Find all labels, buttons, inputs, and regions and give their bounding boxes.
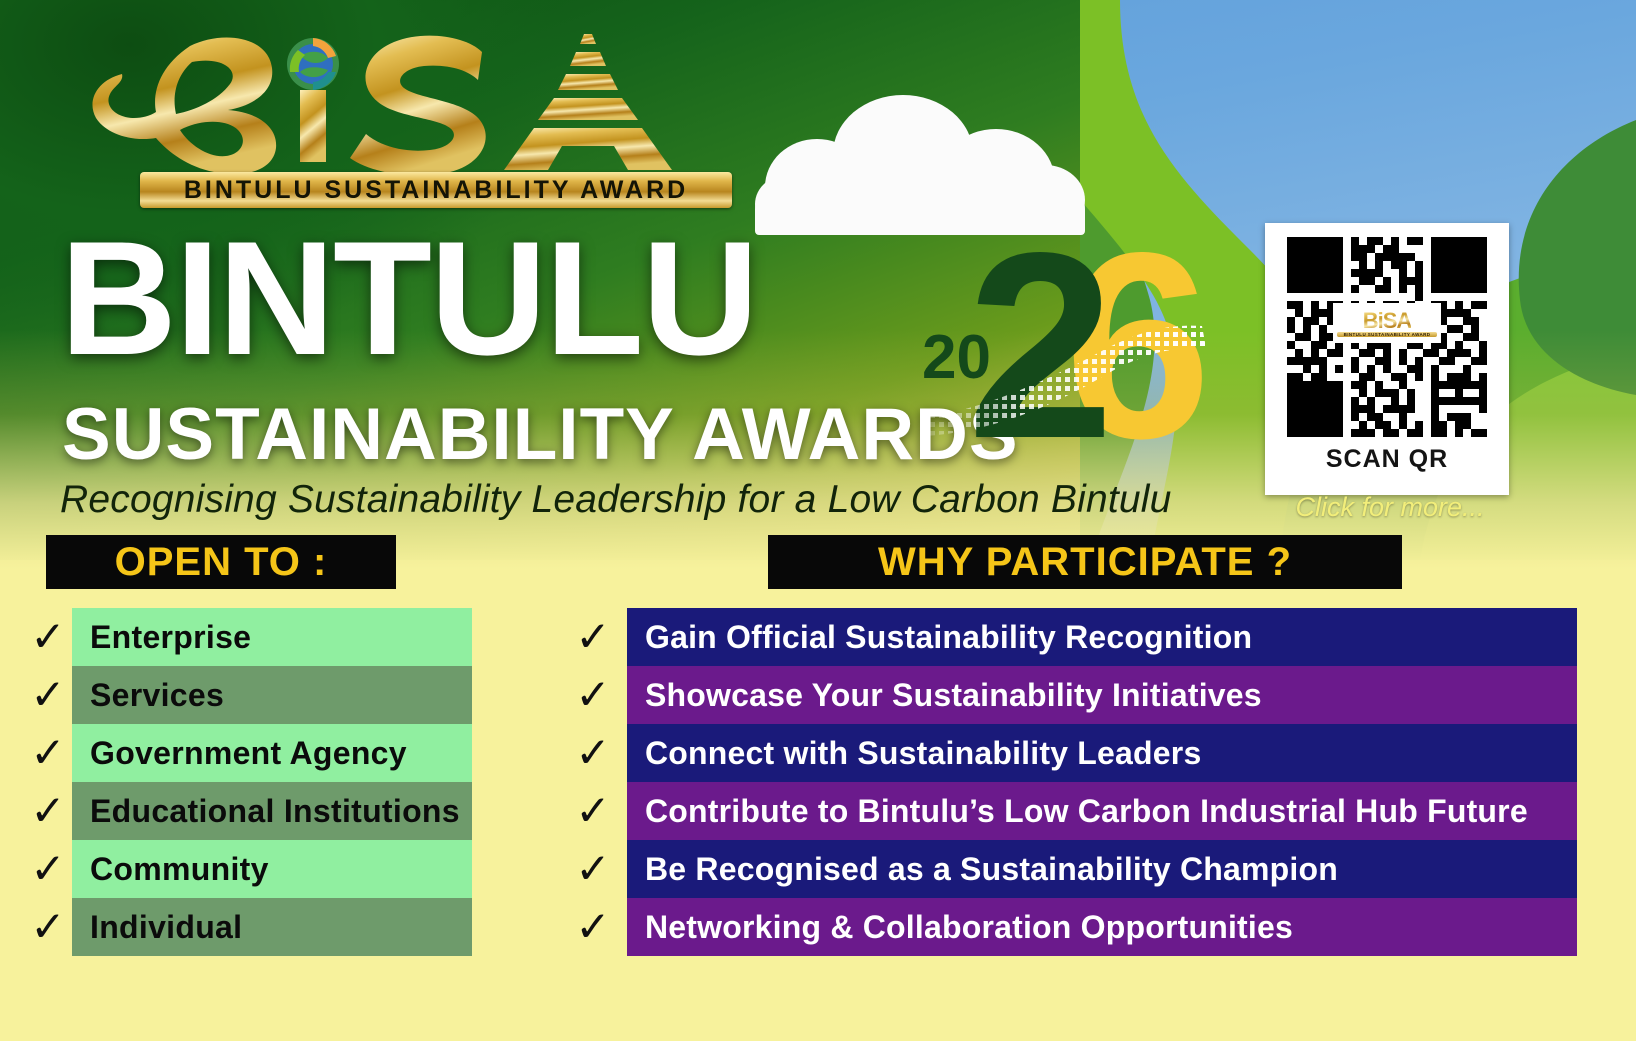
qr-code-card[interactable]: BiSA BINTULU SUSTAINABILITY AWARD SCAN Q… (1265, 223, 1509, 495)
qr-click-for-more-link[interactable]: Click for more... (1265, 492, 1515, 523)
list-item: ✓Networking & Collaboration Opportunitie… (565, 898, 1625, 956)
checkmark-icon: ✓ (20, 616, 76, 658)
list-item-pill: Government Agency (72, 724, 472, 782)
list-item: ✓Connect with Sustainability Leaders (565, 724, 1625, 782)
checkmark-icon: ✓ (20, 848, 76, 890)
checkmark-icon: ✓ (565, 616, 621, 658)
list-item-label: Community (90, 851, 269, 888)
list-item-label: Connect with Sustainability Leaders (645, 735, 1201, 772)
qr-embedded-logo-subtext: BINTULU SUSTAINABILITY AWARD (1337, 332, 1437, 337)
open-to-heading: OPEN TO : (115, 540, 328, 585)
logo-wordmark-plate: BINTULU SUSTAINABILITY AWARD (140, 172, 732, 208)
list-item-label: Government Agency (90, 735, 407, 772)
checkmark-icon: ✓ (20, 790, 76, 832)
list-item-label: Gain Official Sustainability Recognition (645, 619, 1252, 656)
poster-root: BINTULU SUSTAINABILITY AWARD BINTULU SUS… (0, 0, 1636, 1041)
list-item: ✓Services (20, 666, 480, 724)
open-to-banner: OPEN TO : (46, 535, 396, 589)
checkmark-icon: ✓ (565, 848, 621, 890)
year-graphic: 6 2 20 (912, 236, 1212, 486)
list-item: ✓Gain Official Sustainability Recognitio… (565, 608, 1625, 666)
list-item-pill: Enterprise (72, 608, 472, 666)
bisa-logo-mark (72, 22, 672, 172)
qr-embedded-logo-text: BiSA (1363, 310, 1412, 332)
checkmark-icon: ✓ (565, 906, 621, 948)
list-item: ✓Enterprise (20, 608, 480, 666)
list-item-label: Individual (90, 909, 242, 946)
list-item-pill: Networking & Collaboration Opportunities (627, 898, 1577, 956)
list-item: ✓Educational Institutions (20, 782, 480, 840)
poster-title: BINTULU (60, 218, 757, 380)
logo-wordmark-text: BINTULU SUSTAINABILITY AWARD (184, 176, 688, 205)
list-item-pill: Connect with Sustainability Leaders (627, 724, 1577, 782)
halftone-swoosh-decoration (920, 322, 1210, 442)
list-item: ✓Contribute to Bintulu’s Low Carbon Indu… (565, 782, 1625, 840)
why-participate-list: ✓Gain Official Sustainability Recognitio… (565, 608, 1625, 956)
checkmark-icon: ✓ (565, 732, 621, 774)
qr-caption: SCAN QR (1265, 445, 1509, 474)
qr-embedded-logo: BiSA BINTULU SUSTAINABILITY AWARD (1333, 303, 1441, 343)
list-item-pill: Services (72, 666, 472, 724)
list-item: ✓Community (20, 840, 480, 898)
list-item-pill: Individual (72, 898, 472, 956)
list-item-label: Be Recognised as a Sustainability Champi… (645, 851, 1338, 888)
list-item: ✓Be Recognised as a Sustainability Champ… (565, 840, 1625, 898)
list-item-label: Educational Institutions (90, 793, 460, 830)
why-participate-heading: WHY PARTICIPATE ? (878, 540, 1292, 585)
list-item-label: Showcase Your Sustainability Initiatives (645, 677, 1262, 714)
list-item-pill: Showcase Your Sustainability Initiatives (627, 666, 1577, 724)
checkmark-icon: ✓ (20, 674, 76, 716)
poster-subtitle: SUSTAINABILITY AWARDS (62, 398, 1019, 471)
why-participate-banner: WHY PARTICIPATE ? (768, 535, 1402, 589)
list-item-label: Networking & Collaboration Opportunities (645, 909, 1293, 946)
open-to-list: ✓Enterprise✓Services✓Government Agency✓E… (20, 608, 480, 956)
list-item: ✓Government Agency (20, 724, 480, 782)
checkmark-icon: ✓ (565, 674, 621, 716)
list-item-pill: Educational Institutions (72, 782, 472, 840)
list-item-label: Contribute to Bintulu’s Low Carbon Indus… (645, 793, 1528, 830)
list-item-pill: Be Recognised as a Sustainability Champi… (627, 840, 1577, 898)
list-item-pill: Community (72, 840, 472, 898)
bisa-logo[interactable]: BINTULU SUSTAINABILITY AWARD (72, 22, 672, 217)
list-item: ✓Showcase Your Sustainability Initiative… (565, 666, 1625, 724)
checkmark-icon: ✓ (20, 732, 76, 774)
checkmark-icon: ✓ (20, 906, 76, 948)
list-item-label: Enterprise (90, 619, 251, 656)
list-item: ✓Individual (20, 898, 480, 956)
list-item-pill: Contribute to Bintulu’s Low Carbon Indus… (627, 782, 1577, 840)
checkmark-icon: ✓ (565, 790, 621, 832)
list-item-label: Services (90, 677, 224, 714)
list-item-pill: Gain Official Sustainability Recognition (627, 608, 1577, 666)
